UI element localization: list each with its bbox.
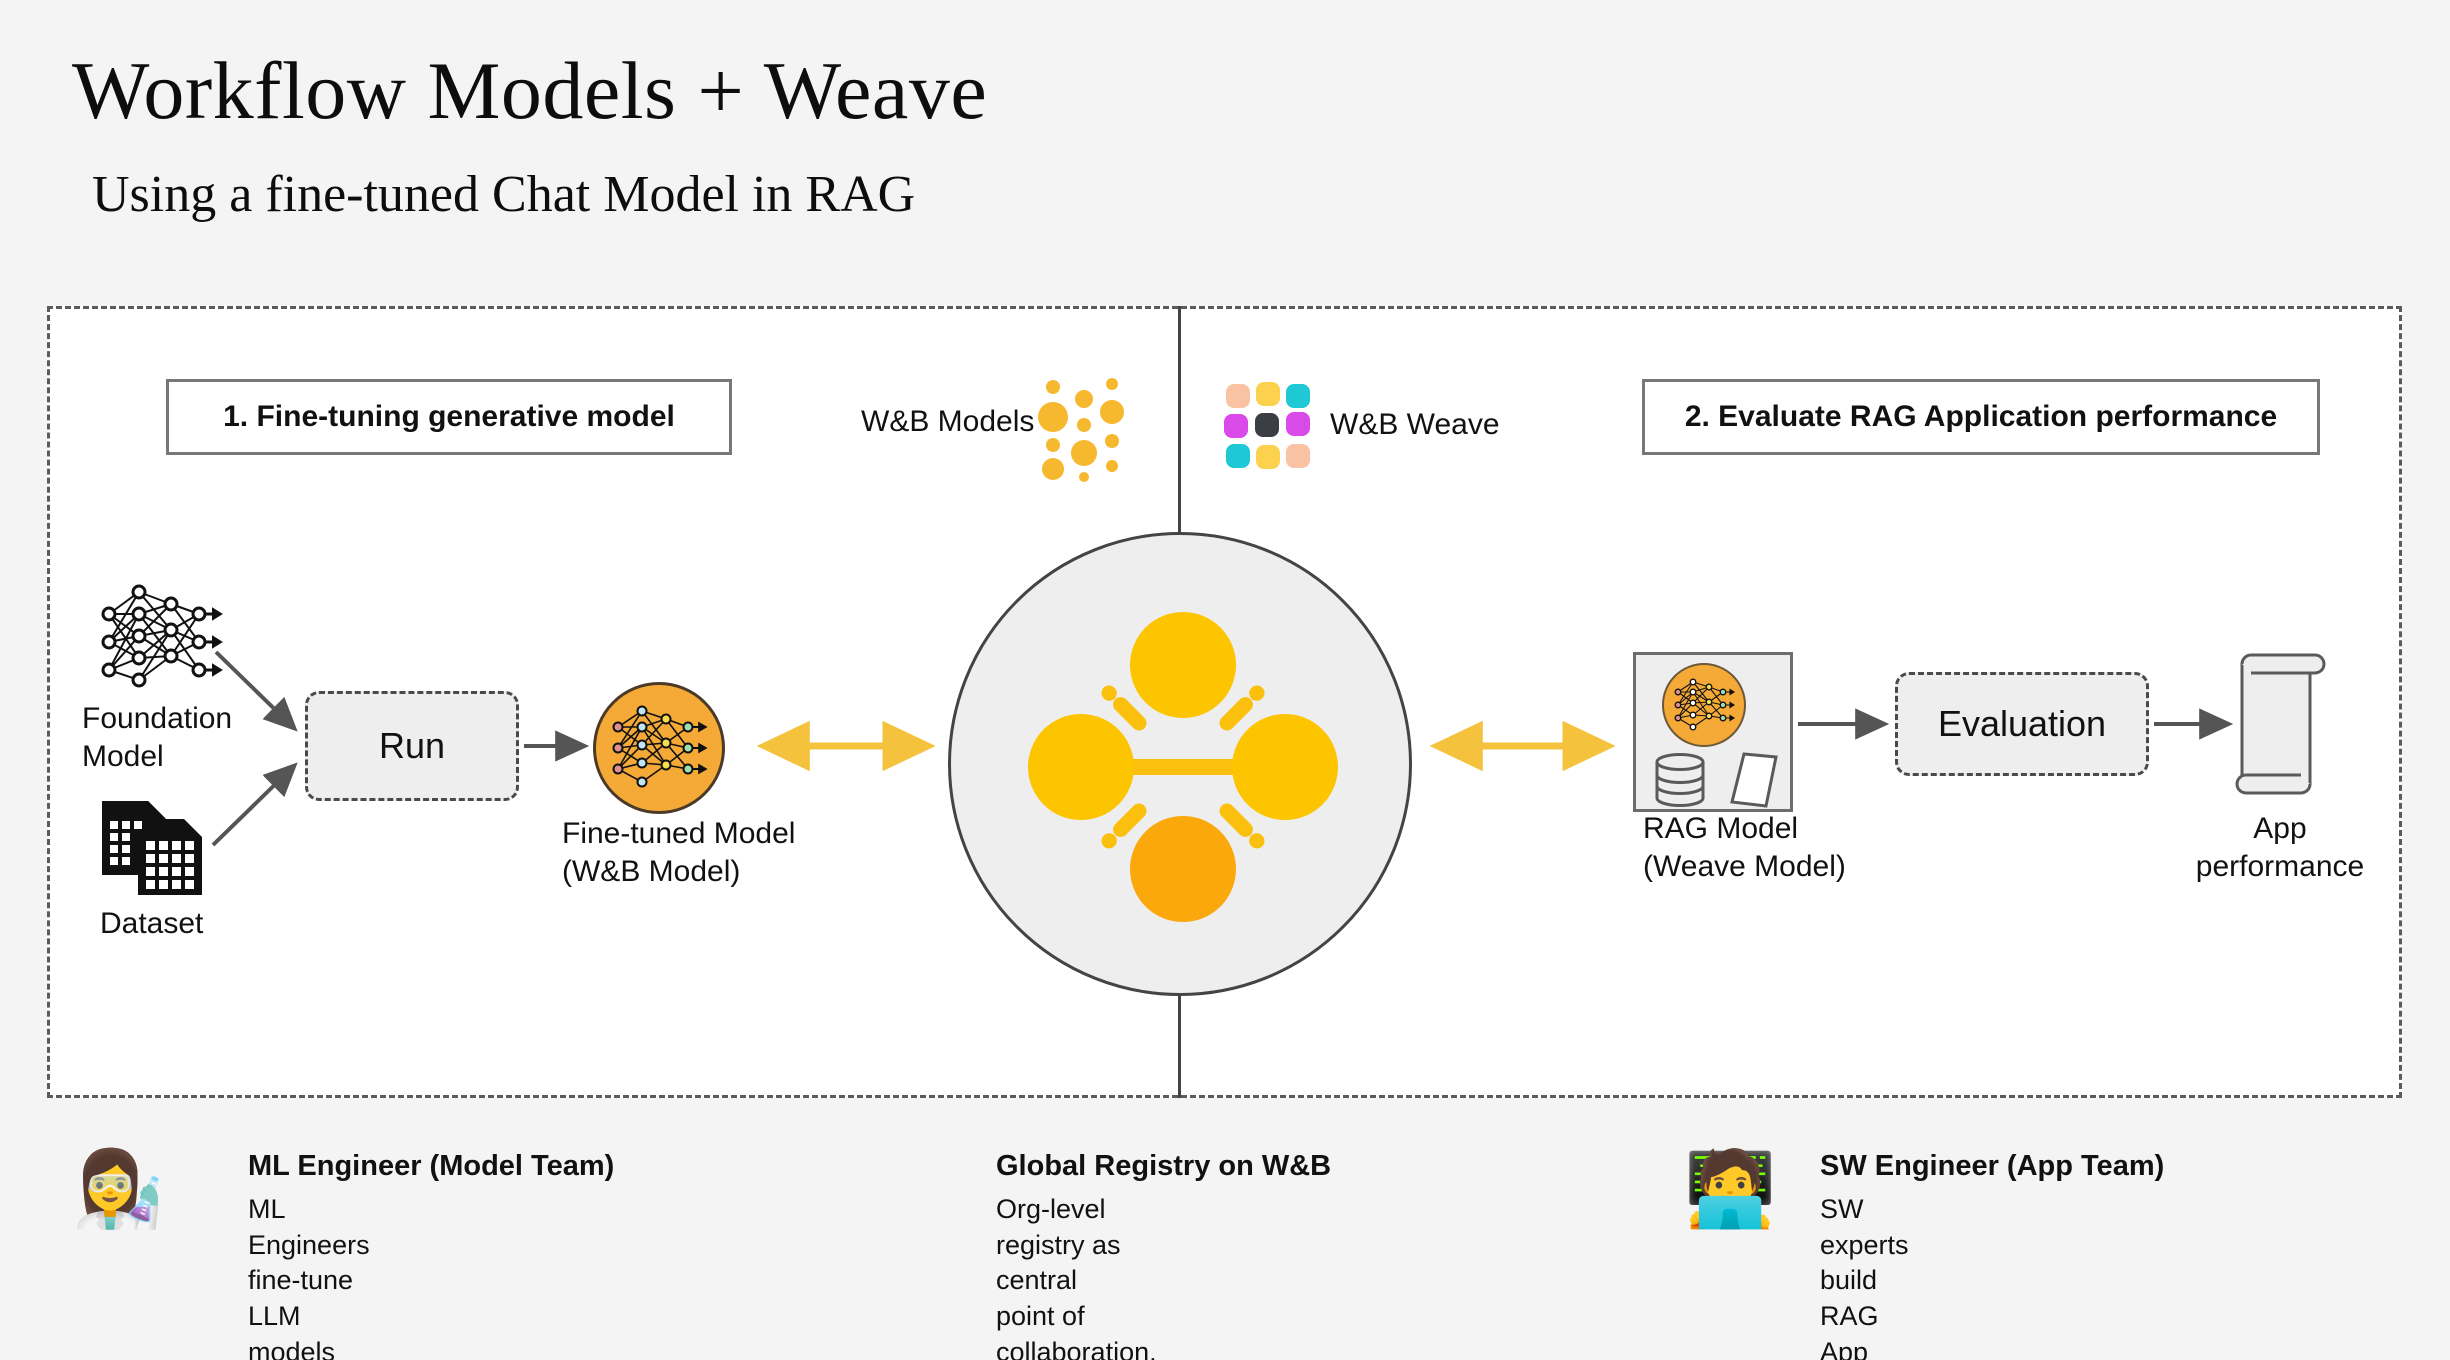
registry-network-icon — [951, 535, 1415, 999]
document-icon — [1728, 751, 1780, 809]
evaluation-node: Evaluation — [1895, 672, 2149, 776]
foundation-model-label: Foundation Model — [82, 700, 232, 775]
rag-model-label: RAG Model (Weave Model) — [1643, 810, 1846, 885]
global-registry-node — [948, 532, 1412, 996]
app-performance-label: App performance — [2190, 810, 2370, 885]
dataset-icon — [100, 795, 220, 900]
technologist-icon: 🧑‍💻 — [1684, 1152, 1776, 1226]
dataset-label: Dataset — [100, 905, 203, 943]
app-performance-scroll-icon — [2232, 650, 2328, 798]
wandb-models-label: W&B Models — [861, 405, 1034, 439]
vector-database-icon — [1652, 753, 1708, 807]
phase-2-header: 2. Evaluate RAG Application performance — [1642, 379, 2320, 455]
page-subtitle: Using a fine-tuned Chat Model in RAG — [92, 168, 915, 223]
finetuned-model-node — [593, 682, 725, 814]
finetuned-model-label: Fine-tuned Model (W&B Model) — [562, 815, 795, 890]
diagram-page: Workflow Models + Weave Using a fine-tun… — [0, 0, 2450, 1360]
legend-description: SW experts build RAG App with Chat Model… — [1820, 1192, 1909, 1360]
phase-1-header: 1. Fine-tuning generative model — [166, 379, 732, 455]
wandb-weave-label: W&B Weave — [1330, 408, 1500, 442]
legend-title: Global Registry on W&B — [996, 1150, 1331, 1183]
wandb-weave-icon — [1224, 382, 1316, 474]
page-title: Workflow Models + Weave — [72, 48, 987, 134]
legend-description: ML Engineers fine-tune LLM models based … — [248, 1192, 371, 1360]
scientist-icon: 👩‍🔬 — [72, 1152, 164, 1226]
rag-model-node — [1633, 652, 1793, 812]
rag-network-icon — [1662, 663, 1746, 747]
legend-title: SW Engineer (App Team) — [1820, 1150, 2164, 1183]
neural-network-icon — [95, 580, 225, 695]
legend-description: Org-level registry as central point of c… — [996, 1192, 1157, 1360]
run-node: Run — [305, 691, 519, 801]
legend-title: ML Engineer (Model Team) — [248, 1150, 614, 1183]
wandb-models-icon — [1038, 376, 1122, 472]
finetuned-network-icon — [596, 685, 722, 811]
